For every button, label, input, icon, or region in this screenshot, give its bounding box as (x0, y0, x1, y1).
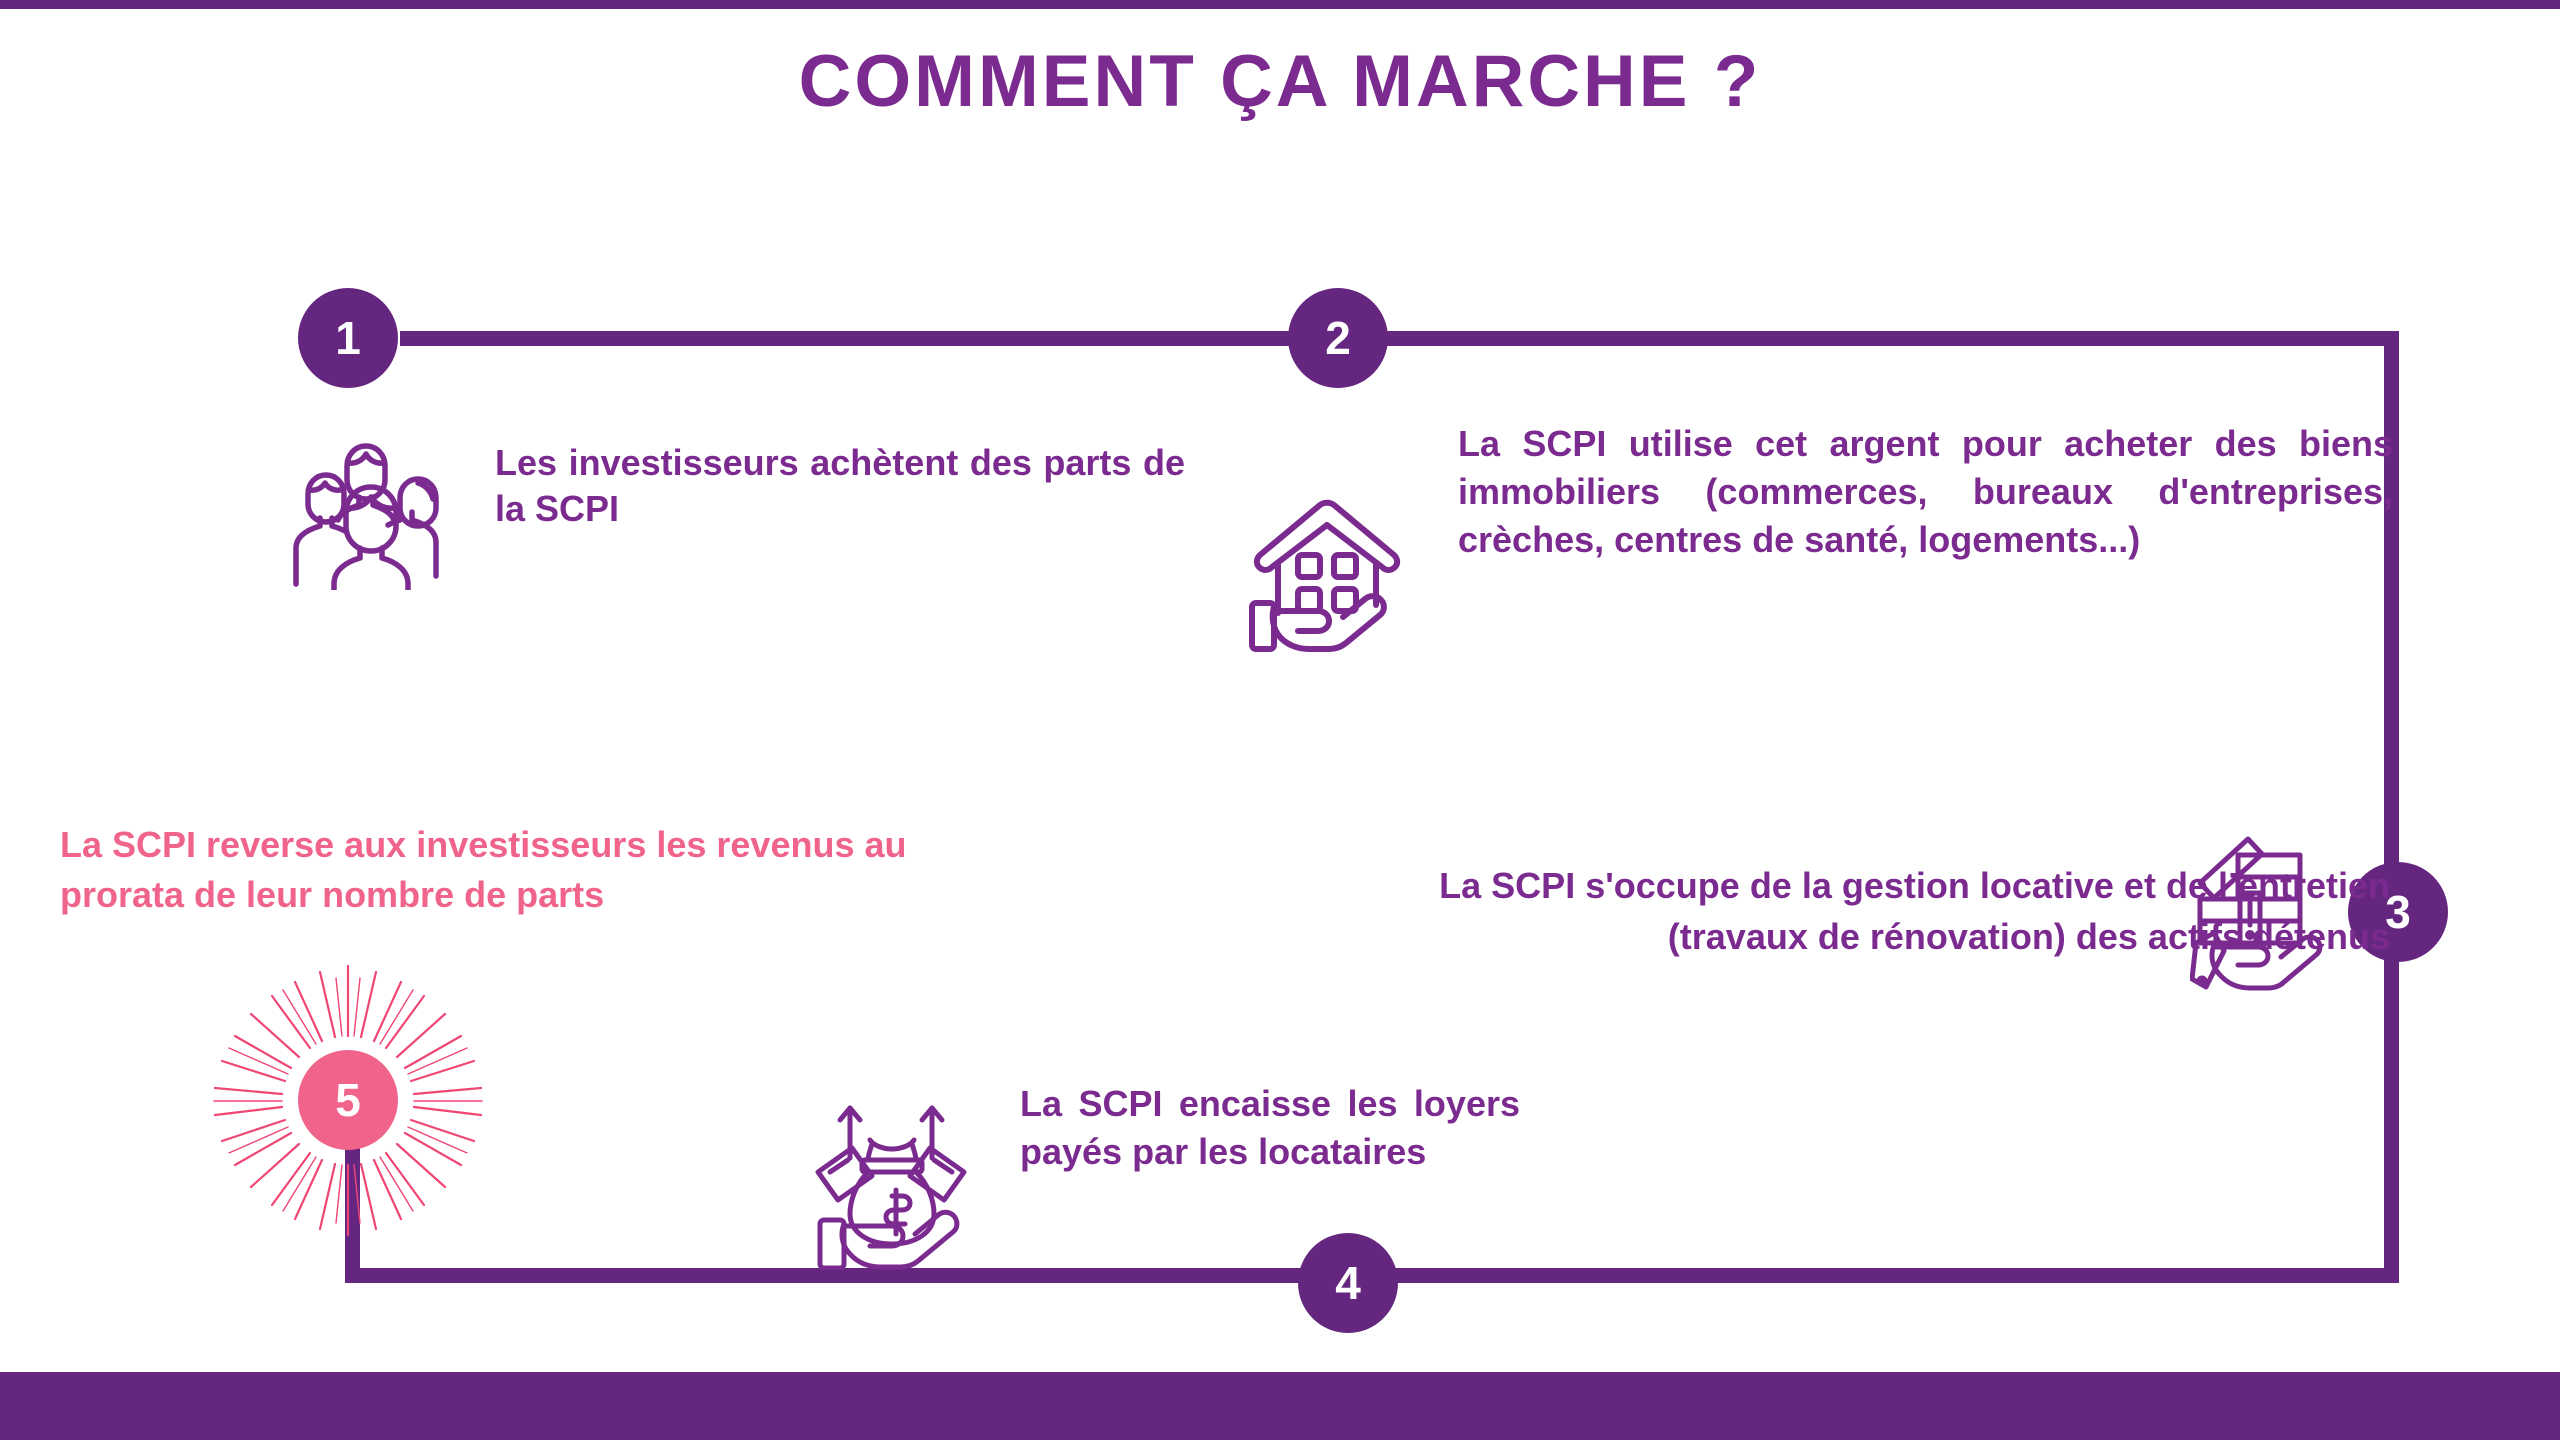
bottom-accent-bar (0, 1372, 2560, 1440)
step-badge-2[interactable]: 2 (1288, 288, 1388, 388)
top-accent-bar (0, 0, 2560, 9)
step-badge-1[interactable]: 1 (298, 288, 398, 388)
step-badge-5[interactable]: 5 (298, 1050, 398, 1150)
connector-line-top (400, 331, 2399, 346)
bricks-in-hand-icon (2190, 825, 2350, 1000)
house-in-hand-icon (1248, 495, 1408, 655)
step-text-2: La SCPI utilise cet argent pour acheter … (1458, 420, 2393, 564)
step-block-1: Les investisseurs achètent des parts de … (290, 430, 1190, 630)
step-text-5: La SCPI reverse aux investisseurs les re… (60, 820, 940, 921)
people-group-icon (290, 440, 455, 590)
step-text-4: La SCPI encaisse les loyers payés par le… (1020, 1080, 1520, 1175)
step-text-1: Les investisseurs achètent des parts de … (495, 440, 1185, 532)
money-bag-in-hand-icon (810, 1100, 980, 1270)
step-badge-4[interactable]: 4 (1298, 1233, 1398, 1333)
page-title: COMMENT ÇA MARCHE ? (0, 40, 2560, 123)
